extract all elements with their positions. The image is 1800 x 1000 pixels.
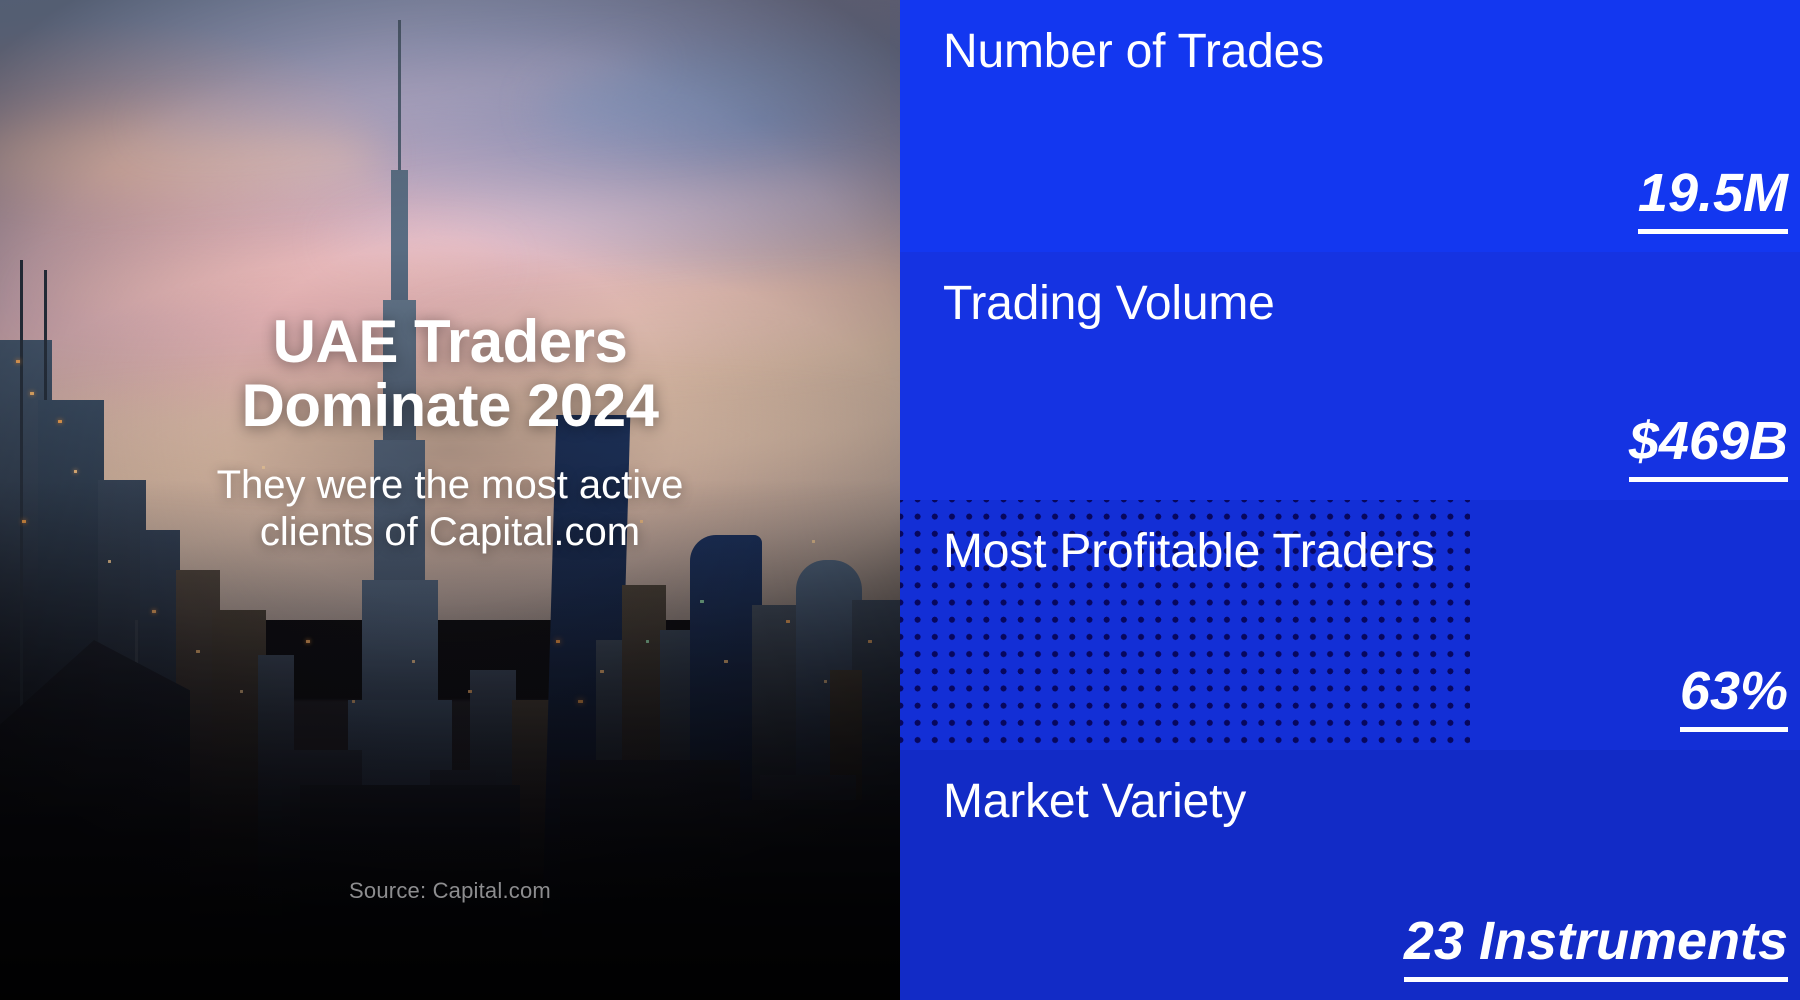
window-light: [306, 640, 310, 643]
stat-panel-most-profitable-traders[interactable]: Most Profitable Traders 63%: [900, 500, 1800, 750]
window-light: [22, 520, 26, 523]
infographic-root: UAE Traders Dominate 2024 They were the …: [0, 0, 1800, 1000]
window-light: [74, 470, 77, 473]
window-light: [16, 360, 20, 363]
window-light: [352, 700, 355, 703]
window-light: [468, 690, 472, 693]
stat-label: Trading Volume: [943, 276, 1275, 331]
stat-value: 19.5M: [1638, 163, 1788, 234]
window-light: [152, 610, 156, 613]
window-light: [640, 520, 643, 523]
stat-value: $469B: [1629, 411, 1788, 482]
window-light: [30, 392, 34, 395]
window-light: [824, 680, 827, 683]
window-light: [700, 600, 704, 603]
stat-panel-market-variety[interactable]: Market Variety 23 Instruments: [900, 750, 1800, 1000]
window-light: [578, 700, 583, 703]
window-light: [240, 690, 243, 693]
window-light: [108, 560, 111, 563]
window-light: [262, 466, 265, 469]
window-light: [196, 650, 200, 653]
stat-value: 63%: [1680, 661, 1788, 732]
stat-label: Number of Trades: [943, 24, 1324, 79]
stat-panel-trading-volume[interactable]: Trading Volume $469B: [900, 252, 1800, 500]
window-light: [812, 540, 815, 543]
stat-value: 23 Instruments: [1404, 911, 1788, 982]
stat-label: Market Variety: [943, 774, 1246, 829]
window-light: [58, 420, 62, 423]
stat-label: Most Profitable Traders: [943, 524, 1435, 579]
hero-image-panel: UAE Traders Dominate 2024 They were the …: [0, 0, 900, 1000]
window-light: [412, 660, 415, 663]
window-light: [868, 640, 872, 643]
dubai-skyline: [0, 0, 900, 1000]
window-light: [600, 670, 604, 673]
window-light: [724, 660, 728, 663]
stats-column: Number of Trades 19.5M Trading Volume $4…: [900, 0, 1800, 1000]
window-light: [646, 640, 649, 643]
window-light: [786, 620, 790, 623]
road-overpass: [0, 942, 900, 1000]
stat-panel-number-of-trades[interactable]: Number of Trades 19.5M: [900, 0, 1800, 252]
window-light: [556, 640, 560, 643]
